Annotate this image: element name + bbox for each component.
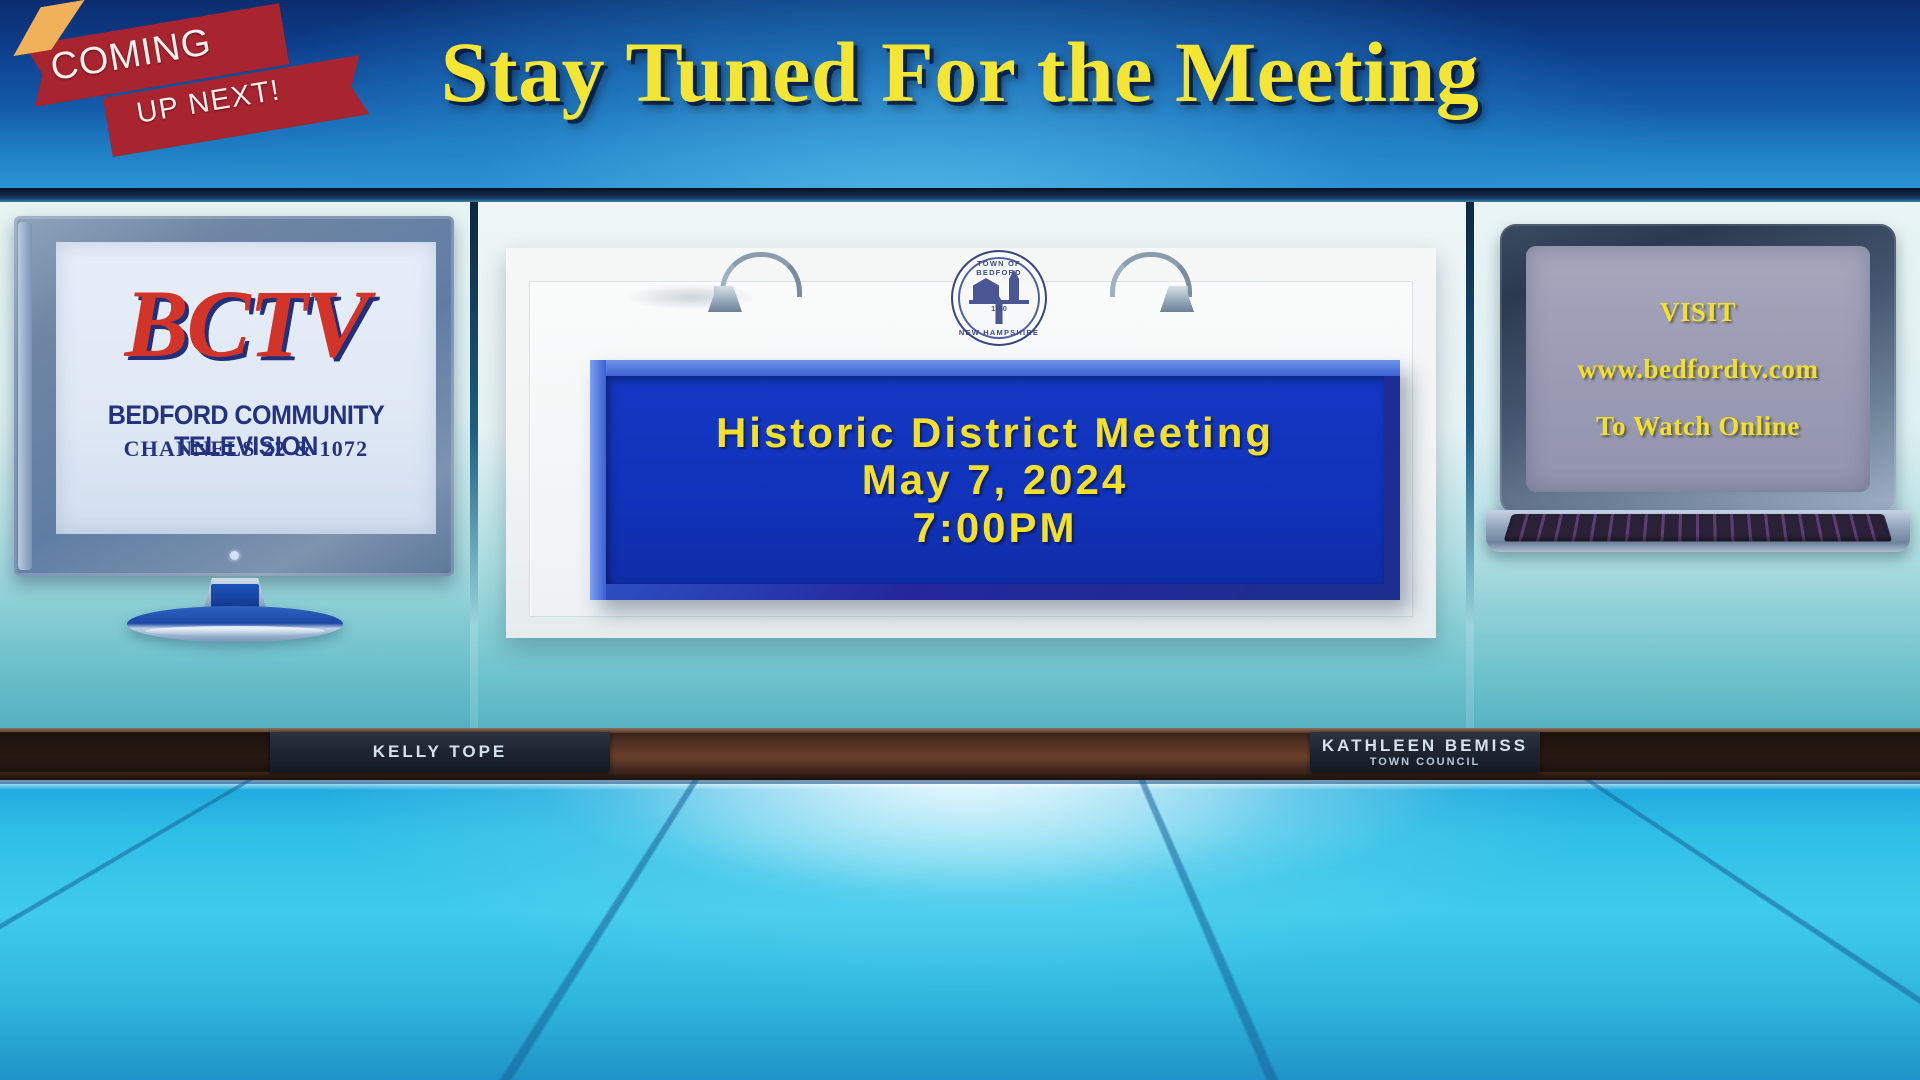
monitor-stand-base <box>127 606 343 642</box>
studio-floor <box>0 780 1920 1080</box>
studio-top-trim <box>0 188 1920 202</box>
broadcast-slate: COMING UP NEXT! Stay Tuned For the Meeti… <box>0 0 1920 1080</box>
seal-building-left <box>973 278 999 300</box>
bctv-logo-channels: CHANNELS 22 & 1072 <box>56 436 436 462</box>
seal-text-bottom: NEW HAMPSHIRE <box>953 328 1045 337</box>
nameplate-kathleen-bemiss: KATHLEEN BEMISS TOWN COUNCIL <box>1310 732 1540 772</box>
laptop-keyboard-icon <box>1503 514 1892 542</box>
right-wall-panel: VISIT www.bedfordtv.com To Watch Online <box>1474 202 1920 768</box>
monitor-stand-highlight <box>145 626 325 636</box>
nameplate-kelly-tope: KELLY TOPE <box>270 732 610 772</box>
banner-title: Stay Tuned For the Meeting <box>0 22 1920 122</box>
presentation-screen: Historic District Meeting May 7, 2024 7:… <box>590 360 1400 600</box>
presentation-screen-display: Historic District Meeting May 7, 2024 7:… <box>606 376 1384 584</box>
desk-panel-right <box>1540 732 1920 772</box>
laptop: VISIT www.bedfordtv.com To Watch Online <box>1500 224 1896 554</box>
wall-lamp-left-icon <box>706 252 806 310</box>
meeting-time: 7:00PM <box>912 504 1077 551</box>
presentation-wall: TOWN OF BEDFORD 1750 NEW HAMPSHIRE Histo… <box>506 248 1436 638</box>
top-banner: COMING UP NEXT! Stay Tuned For the Meeti… <box>0 0 1920 188</box>
nameplate-name: KELLY TOPE <box>373 742 508 762</box>
monitor-screen: BCTV BEDFORD COMMUNITY TELEVISION CHANNE… <box>56 242 436 534</box>
laptop-line-url: www.bedfordtv.com <box>1577 354 1818 385</box>
monitor-power-led-icon <box>230 551 239 560</box>
floor-front-edge <box>0 780 1920 784</box>
bctv-monitor: BCTV BEDFORD COMMUNITY TELEVISION CHANNE… <box>14 216 454 576</box>
meeting-date: May 7, 2024 <box>862 456 1129 503</box>
panel-divider-right <box>1466 202 1474 768</box>
floor-light-reflection <box>0 780 1920 1080</box>
studio-backdrop: BCTV BEDFORD COMMUNITY TELEVISION CHANNE… <box>0 188 1920 768</box>
laptop-lid: VISIT www.bedfordtv.com To Watch Online <box>1500 224 1896 514</box>
wall-lamp-right-icon <box>1096 252 1196 310</box>
laptop-line-visit: VISIT <box>1660 297 1737 328</box>
center-wall-panel: TOWN OF BEDFORD 1750 NEW HAMPSHIRE Histo… <box>478 202 1466 768</box>
bctv-logo-wordmark: BCTV <box>56 280 436 368</box>
desk-panel-left <box>0 732 270 772</box>
seal-text-top: TOWN OF BEDFORD <box>953 259 1045 277</box>
left-wall-panel: BCTV BEDFORD COMMUNITY TELEVISION CHANNE… <box>0 202 470 768</box>
meeting-title: Historic District Meeting <box>716 409 1274 456</box>
monitor-bezel-left <box>18 222 32 570</box>
nameplate-name: KATHLEEN BEMISS <box>1322 736 1528 756</box>
town-of-bedford-seal-icon: TOWN OF BEDFORD 1750 NEW HAMPSHIRE <box>951 250 1047 346</box>
panel-divider-left <box>470 202 478 768</box>
council-desk: KELLY TOPE KATHLEEN BEMISS TOWN COUNCIL <box>0 728 1920 780</box>
seal-year: 1750 <box>953 306 1045 313</box>
nameplate-role: TOWN COUNCIL <box>1370 756 1481 768</box>
laptop-line-watch-online: To Watch Online <box>1596 411 1800 442</box>
laptop-screen: VISIT www.bedfordtv.com To Watch Online <box>1526 246 1870 492</box>
monitor-stand-plate <box>211 584 259 608</box>
